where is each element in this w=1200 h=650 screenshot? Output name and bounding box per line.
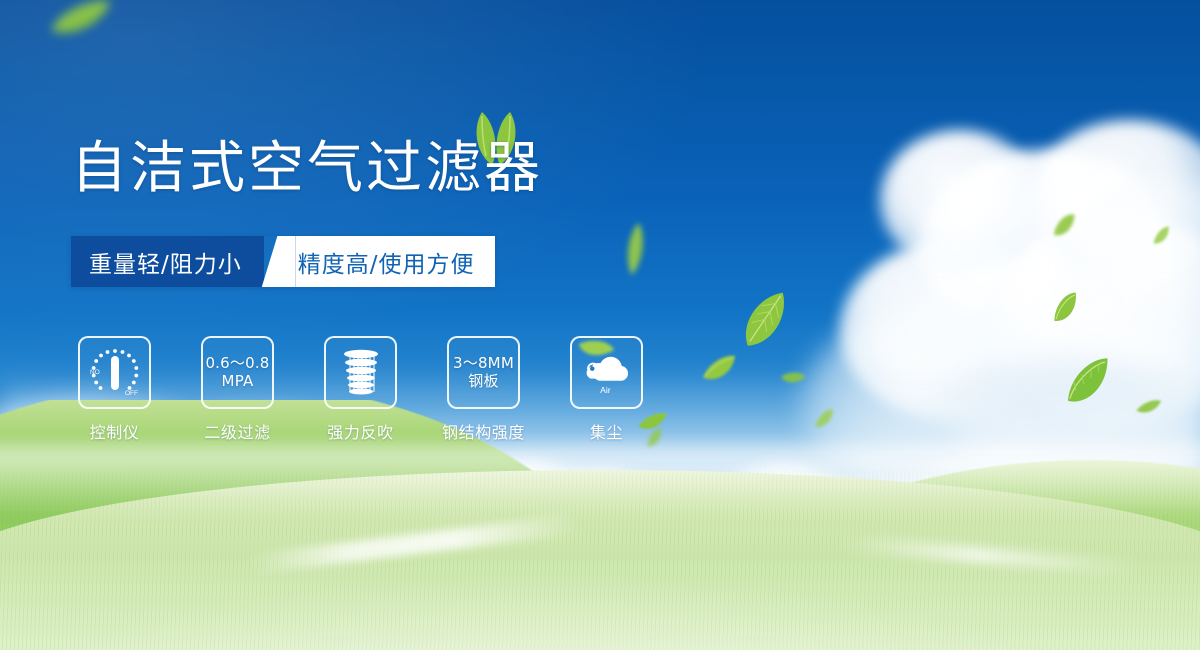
feature-item-dust-collection[interactable]: Air 集尘: [570, 336, 643, 443]
feature-item-two-stage-filtration[interactable]: 0.6〜0.8 MPA 二级过滤: [201, 336, 274, 443]
steel-plate-text-icon: 3〜8MM 钢板: [453, 355, 514, 390]
feature-box: NO OFF: [78, 336, 151, 409]
hero-banner: 自洁式空气过滤器 重量轻/阻力小 精度高/使用方便: [0, 0, 1200, 650]
feature-box: Air: [570, 336, 643, 409]
page-title: 自洁式空气过滤器: [71, 141, 543, 197]
feature-box: [324, 336, 397, 409]
dial-knob-icon: NO OFF: [85, 343, 145, 403]
pressure-text-icon: 0.6〜0.8 MPA: [205, 355, 269, 390]
feature-label: 集尘: [590, 419, 623, 443]
feature-label: 二级过滤: [204, 419, 270, 443]
feature-box: 0.6〜0.8 MPA: [201, 336, 274, 409]
cloud-air-label: Air: [600, 384, 611, 394]
subtitle-wedge-divider: [262, 236, 296, 287]
feature-item-control-instrument[interactable]: NO OFF 控制仪: [78, 336, 151, 443]
cloud-air-icon: Air: [581, 347, 633, 399]
subtitle-bar: 重量轻/阻力小 精度高/使用方便: [71, 236, 495, 287]
dial-off-label: OFF: [125, 390, 138, 397]
feature-box: 3〜8MM 钢板: [447, 336, 520, 409]
meadow-horizon-glow: [0, 446, 1200, 516]
feature-label: 控制仪: [90, 419, 140, 443]
dial-on-label: NO: [90, 369, 100, 376]
feature-item-strong-back-blow[interactable]: 强力反吹: [324, 336, 397, 443]
feature-label: 强力反吹: [327, 419, 393, 443]
subtitle-left-text: 重量轻/阻力小: [71, 236, 264, 287]
feature-item-steel-structure-strength[interactable]: 3〜8MM 钢板 钢结构强度: [447, 336, 520, 443]
subtitle-right-text: 精度高/使用方便: [296, 236, 495, 287]
feature-list: NO OFF 控制仪 0.6〜0.8 MPA 二级过滤: [78, 336, 643, 443]
feature-label: 钢结构强度: [442, 419, 525, 443]
pleated-filter-cartridge-icon: [331, 343, 391, 403]
